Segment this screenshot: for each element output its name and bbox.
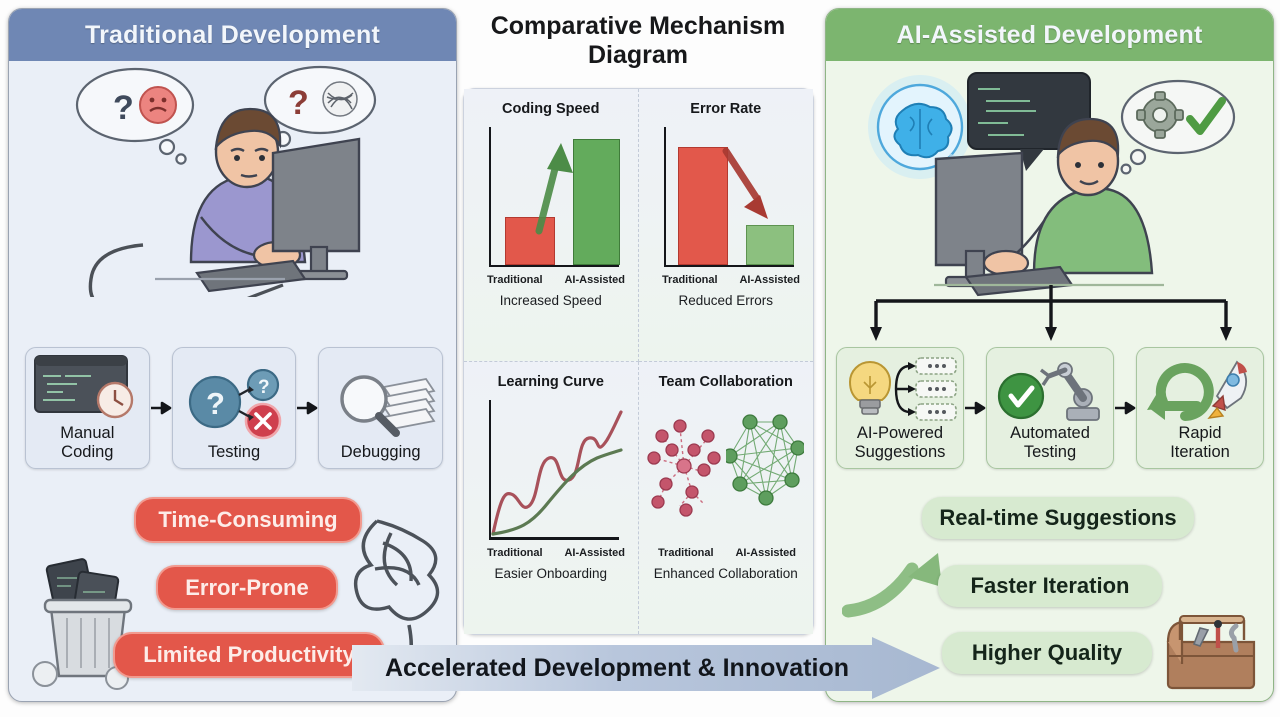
- chart-title: Error Rate: [690, 101, 761, 117]
- down-arrow-red-icon: [720, 145, 782, 231]
- rapid-iteration-icons: [1141, 354, 1259, 424]
- bar-ai-assisted: [573, 139, 620, 265]
- chart-caption: Enhanced Collaboration: [654, 566, 798, 581]
- traditional-panel-title: Traditional Development: [85, 21, 380, 50]
- x-tick-labels: Traditional AI-Assisted: [655, 274, 805, 286]
- y-axis: [664, 127, 667, 267]
- flow-card-label: Rapid Iteration: [1170, 424, 1230, 468]
- x-axis: [489, 265, 619, 268]
- flow-card-testing[interactable]: ? ? Testing: [172, 347, 297, 469]
- bottom-banner-arrow: Accelerated Development & Innovation: [352, 637, 940, 699]
- chart-plot-area: [646, 396, 806, 546]
- ai-panel-body: AI-Powered Suggestions: [826, 61, 1273, 701]
- flow-card-label: Testing: [208, 443, 260, 468]
- rocket-icon: [1209, 362, 1247, 418]
- chart-caption: Easier Onboarding: [494, 566, 607, 581]
- question-mark-icon: ?: [288, 84, 309, 122]
- sad-face-icon: [140, 87, 176, 123]
- banner-label: Accelerated Development & Innovation: [352, 637, 882, 699]
- flow-card-automated-testing[interactable]: Automated Testing: [986, 347, 1114, 469]
- svg-text:?: ?: [258, 377, 270, 398]
- chart-caption: Reduced Errors: [678, 293, 773, 308]
- x-tick-labels: Traditional AI-Assisted: [480, 547, 630, 559]
- traditional-panel-body: ? ?: [9, 61, 456, 701]
- ai-flow-row: AI-Powered Suggestions: [836, 347, 1264, 469]
- chart-title: Learning Curve: [498, 374, 604, 390]
- question-mark-icon: ?: [113, 89, 134, 127]
- automated-testing-icons: [991, 354, 1109, 424]
- paper-stack-icon: [384, 379, 434, 429]
- positive-pill-higher-quality: Higher Quality: [942, 632, 1152, 674]
- positive-pill-realtime-suggestions: Real-time Suggestions: [922, 497, 1194, 539]
- chart-error-rate: Error Rate Traditional AI-Assisted Reduc…: [639, 89, 814, 362]
- growth-arrow-icon: [842, 551, 952, 621]
- x-tick-labels: Traditional AI-Assisted: [480, 274, 630, 286]
- traditional-development-panel: Traditional Development ? ?: [8, 8, 457, 702]
- positive-pill-faster-iteration: Faster Iteration: [938, 565, 1162, 607]
- network-ai-assisted: [726, 414, 804, 514]
- tangle-scribble-icon: [356, 521, 438, 619]
- x-tick-labels: Traditional AI-Assisted: [647, 547, 805, 559]
- ai-suggestions-icons: [840, 354, 960, 424]
- page-title: Comparative Mechanism Diagram: [462, 12, 814, 70]
- chart-title: Coding Speed: [502, 101, 599, 117]
- network-nodes: [726, 415, 804, 505]
- chart-title: Team Collaboration: [659, 374, 793, 390]
- traditional-flow-row: Manual Coding ? ?: [25, 347, 443, 469]
- chart-team-collaboration: Team Collaboration: [639, 362, 814, 635]
- flow-card-debugging[interactable]: Debugging: [318, 347, 443, 469]
- code-window-icon: [31, 350, 143, 424]
- chart-caption: Increased Speed: [500, 293, 602, 308]
- tangle-scribble-icon: [323, 82, 357, 116]
- flow-card-ai-powered-suggestions[interactable]: AI-Powered Suggestions: [836, 347, 964, 469]
- keyboard-icon: [197, 261, 305, 291]
- up-arrow-green-icon: [527, 139, 579, 235]
- flow-arrow-2: [296, 347, 318, 469]
- flow-arrow-1: [964, 347, 986, 469]
- flow-arrow-1: [150, 347, 172, 469]
- chart-plot-area: [475, 396, 627, 546]
- frustrated-developer-illustration: ? ?: [15, 57, 455, 297]
- comparative-chart-card: Coding Speed Traditional AI-Assisted Inc…: [463, 88, 814, 635]
- debugging-icons: [326, 369, 436, 443]
- flow-card-label: Automated Testing: [1010, 424, 1090, 468]
- robot-arm-icon: [1041, 363, 1099, 420]
- traditional-panel-header: Traditional Development: [9, 9, 456, 61]
- flow-card-manual-coding[interactable]: Manual Coding: [25, 347, 150, 469]
- flow-card-rapid-iteration[interactable]: Rapid Iteration: [1136, 347, 1264, 469]
- ai-panel-title: AI-Assisted Development: [896, 21, 1202, 50]
- ai-developer-illustration: [838, 61, 1268, 301]
- chart-plot-area: [475, 123, 627, 273]
- chart-learning-curve: Learning Curve Traditional AI-Assisted E…: [464, 362, 639, 635]
- suggestion-list-icon: [916, 358, 956, 420]
- flow-card-label: Manual Coding: [60, 424, 114, 468]
- series-traditional: [493, 412, 621, 534]
- chart-plot-area: [650, 123, 802, 273]
- testing-icons: ? ?: [179, 369, 289, 443]
- branch-arrows: [856, 283, 1246, 345]
- learning-curve-lines: [491, 400, 623, 540]
- chart-coding-speed: Coding Speed Traditional AI-Assisted Inc…: [464, 89, 639, 362]
- negative-pill-limited-productivity: Limited Productivity: [113, 632, 385, 678]
- crumpled-paper-icon: [33, 662, 57, 686]
- y-axis: [489, 127, 492, 267]
- lightbulb-icon: [850, 362, 890, 414]
- negative-pill-error-prone: Error-Prone: [156, 565, 338, 610]
- infographic-canvas: Traditional Development ? ?: [0, 0, 1280, 717]
- flow-card-label: Debugging: [341, 443, 421, 468]
- ai-panel-header: AI-Assisted Development: [826, 9, 1273, 61]
- svg-text:?: ?: [206, 386, 225, 421]
- toolbox-icon: [1156, 608, 1266, 690]
- flow-card-label: AI-Powered Suggestions: [855, 424, 946, 468]
- x-axis: [664, 265, 794, 268]
- flow-arrow-2: [1114, 347, 1136, 469]
- check-circle-icon: [999, 374, 1043, 418]
- ai-assisted-development-panel: AI-Assisted Development: [825, 8, 1274, 702]
- network-traditional: [646, 414, 722, 524]
- negative-pill-time-consuming: Time-Consuming: [134, 497, 362, 543]
- messy-flow-arrow: [87, 245, 143, 297]
